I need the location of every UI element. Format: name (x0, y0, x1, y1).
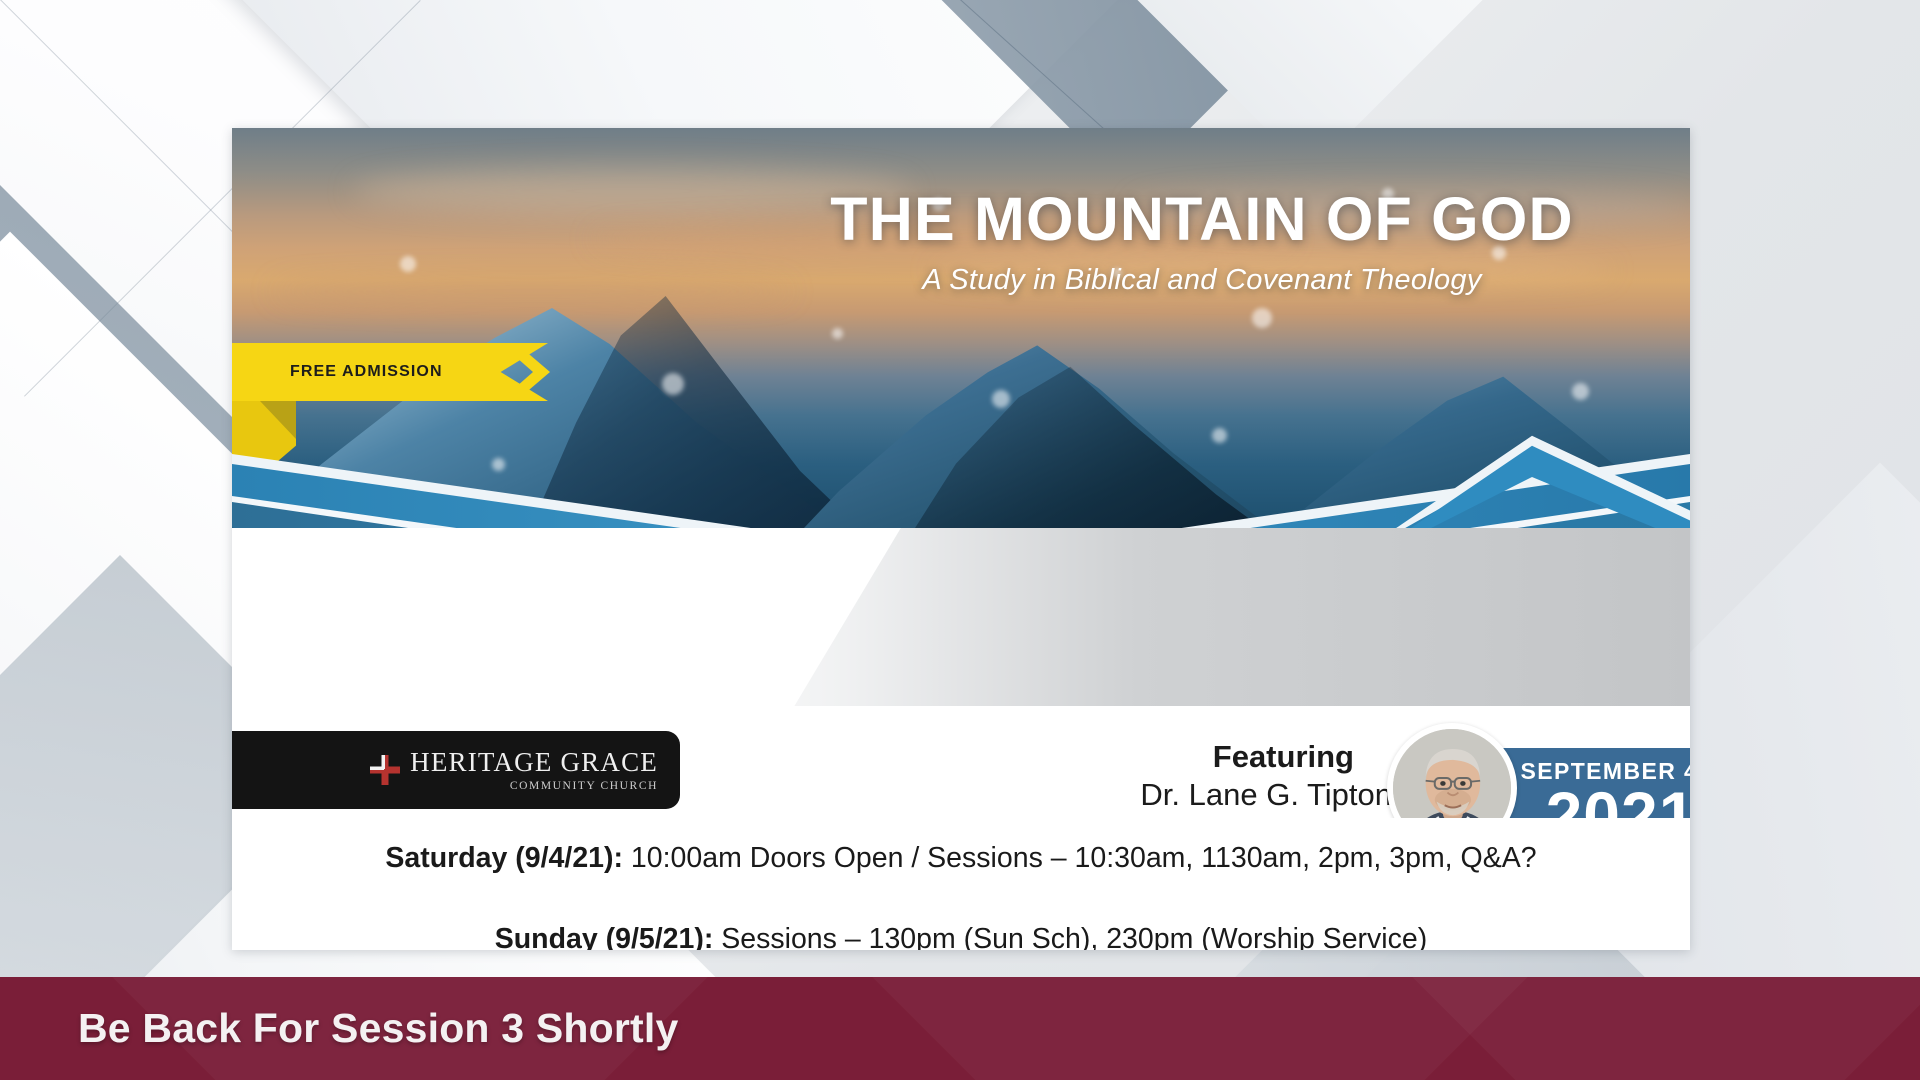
schedule-detail: Sessions – 130pm (Sun Sch), 230pm (Worsh… (713, 923, 1427, 950)
schedule-day-label: Saturday (9/4/21): (385, 842, 623, 874)
slide-card: THE MOUNTAIN OF GOD A Study in Biblical … (232, 128, 1690, 950)
cross-icon (370, 755, 400, 785)
logo-name: HERITAGE GRACE (410, 749, 658, 776)
page-subtitle: A Study in Biblical and Covenant Theolog… (752, 264, 1652, 297)
schedule-block: Saturday (9/4/21): 10:00am Doors Open / … (232, 818, 1690, 950)
free-admission-ribbon: FREE ADMISSION (232, 343, 548, 401)
featuring-label: Featuring (872, 740, 1392, 774)
featuring-block: Featuring Dr. Lane G. Tipton (872, 740, 1392, 815)
hero-headline: THE MOUNTAIN OF GOD A Study in Biblical … (752, 188, 1652, 297)
status-banner: Be Back For Session 3 Shortly (0, 977, 1920, 1080)
free-admission-label: FREE ADMISSION (290, 363, 443, 381)
hero-image: THE MOUNTAIN OF GOD A Study in Biblical … (232, 128, 1690, 528)
schedule-day-label: Sunday (9/5/21): (495, 923, 714, 950)
church-logo-bar: HERITAGE GRACE COMMUNITY CHURCH (232, 731, 680, 809)
speaker-name: Dr. Lane G. Tipton (872, 776, 1392, 815)
slide-stage: THE MOUNTAIN OF GOD A Study in Biblical … (0, 0, 1920, 1080)
logo-tagline: COMMUNITY CHURCH (510, 780, 658, 792)
schedule-row: Saturday (9/4/21): 10:00am Doors Open / … (232, 840, 1690, 877)
schedule-detail: 10:00am Doors Open / Sessions – 10:30am,… (623, 842, 1537, 874)
page-title: THE MOUNTAIN OF GOD (752, 188, 1652, 251)
schedule-row: Sunday (9/5/21): Sessions – 130pm (Sun S… (232, 921, 1690, 950)
banner-sheen (1312, 977, 1920, 1080)
banner-message: Be Back For Session 3 Shortly (78, 1005, 679, 1052)
banner-sheen (832, 977, 1567, 1080)
